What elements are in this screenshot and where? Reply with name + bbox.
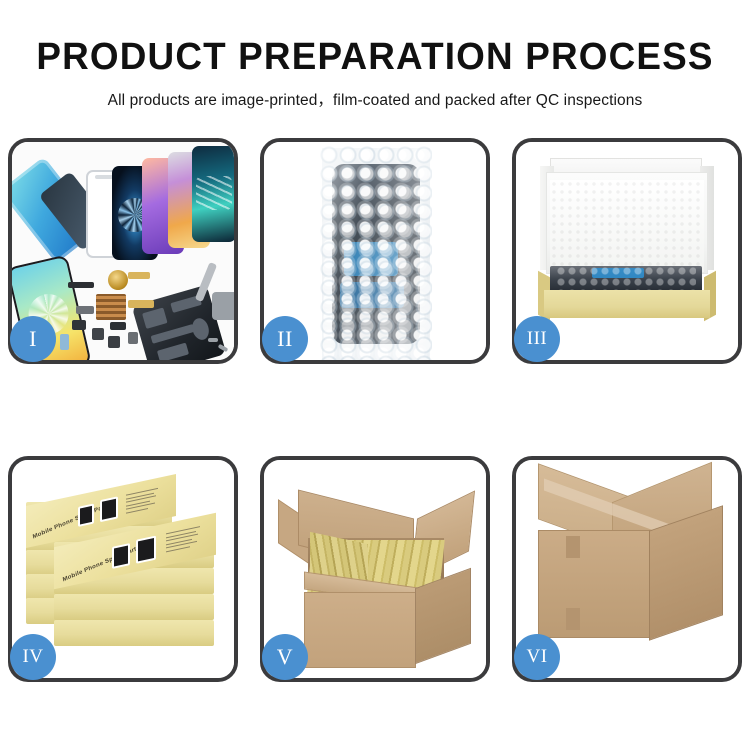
stacked-box-front-4 bbox=[54, 620, 214, 646]
page-title: PRODUCT PREPARATION PROCESS bbox=[11, 36, 739, 79]
sealed-carton-front bbox=[538, 530, 650, 638]
step-badge-4: IV bbox=[10, 634, 56, 680]
box-screen-image-4 bbox=[136, 536, 156, 564]
film-glare bbox=[320, 146, 432, 360]
step-badge-5: V bbox=[262, 634, 308, 680]
step-panel-4[interactable]: Mobile Phone Spare Parts Mobile Phone Sp… bbox=[8, 456, 238, 682]
step-panel-3[interactable]: III bbox=[512, 138, 742, 364]
part-flat-connector bbox=[68, 282, 94, 288]
wrapped-screen-in-box bbox=[550, 266, 702, 292]
step-badge-3: III bbox=[514, 316, 560, 362]
part-small-2 bbox=[72, 320, 86, 330]
part-small-1 bbox=[76, 306, 94, 314]
step-panel-6[interactable]: VI bbox=[512, 456, 742, 682]
part-small-5 bbox=[108, 336, 120, 348]
step-badge-1: I bbox=[10, 316, 56, 362]
box-front-panel bbox=[544, 290, 710, 318]
process-steps-grid: I II bbox=[8, 138, 742, 686]
box-stack: Mobile Phone Spare Parts Mobile Phone Sp… bbox=[20, 484, 228, 660]
product-preparation-infographic: PRODUCT PREPARATION PROCESS All products… bbox=[0, 0, 750, 750]
part-copper-coil bbox=[108, 270, 128, 290]
sealed-carton-side bbox=[649, 505, 723, 640]
header: PRODUCT PREPARATION PROCESS All products… bbox=[0, 0, 750, 110]
part-flex-cable-1 bbox=[128, 272, 150, 279]
step-badge-2: II bbox=[262, 316, 308, 362]
part-screw-1 bbox=[208, 338, 218, 342]
box-screen-image-3 bbox=[112, 543, 130, 569]
box-spec-lines-back bbox=[126, 487, 160, 515]
step-badge-6: VI bbox=[514, 634, 560, 680]
part-flex-cable-2 bbox=[128, 300, 154, 308]
step-panel-2[interactable]: II bbox=[260, 138, 490, 364]
step-panel-1[interactable]: I bbox=[8, 138, 238, 364]
step-panel-5[interactable]: V bbox=[260, 456, 490, 682]
box-screen-image-2 bbox=[100, 496, 118, 522]
page-subtitle: All products are image-printed，film-coat… bbox=[0, 88, 750, 110]
part-tool-body bbox=[212, 292, 234, 320]
part-chip-grid bbox=[96, 294, 126, 320]
part-small-4 bbox=[110, 322, 126, 330]
part-small-6 bbox=[128, 332, 138, 344]
carton-front-panel bbox=[304, 592, 416, 668]
screen-teal-swirl bbox=[192, 146, 234, 242]
part-small-3 bbox=[92, 328, 104, 340]
stacked-box-front-3 bbox=[54, 594, 214, 620]
carton-seam-top bbox=[566, 536, 580, 558]
box-screen-image-1 bbox=[78, 503, 94, 526]
foam-liner bbox=[550, 180, 704, 272]
box-spec-lines-front bbox=[166, 526, 202, 555]
carton-seam-bottom bbox=[566, 608, 580, 630]
part-battery-small bbox=[60, 334, 69, 350]
